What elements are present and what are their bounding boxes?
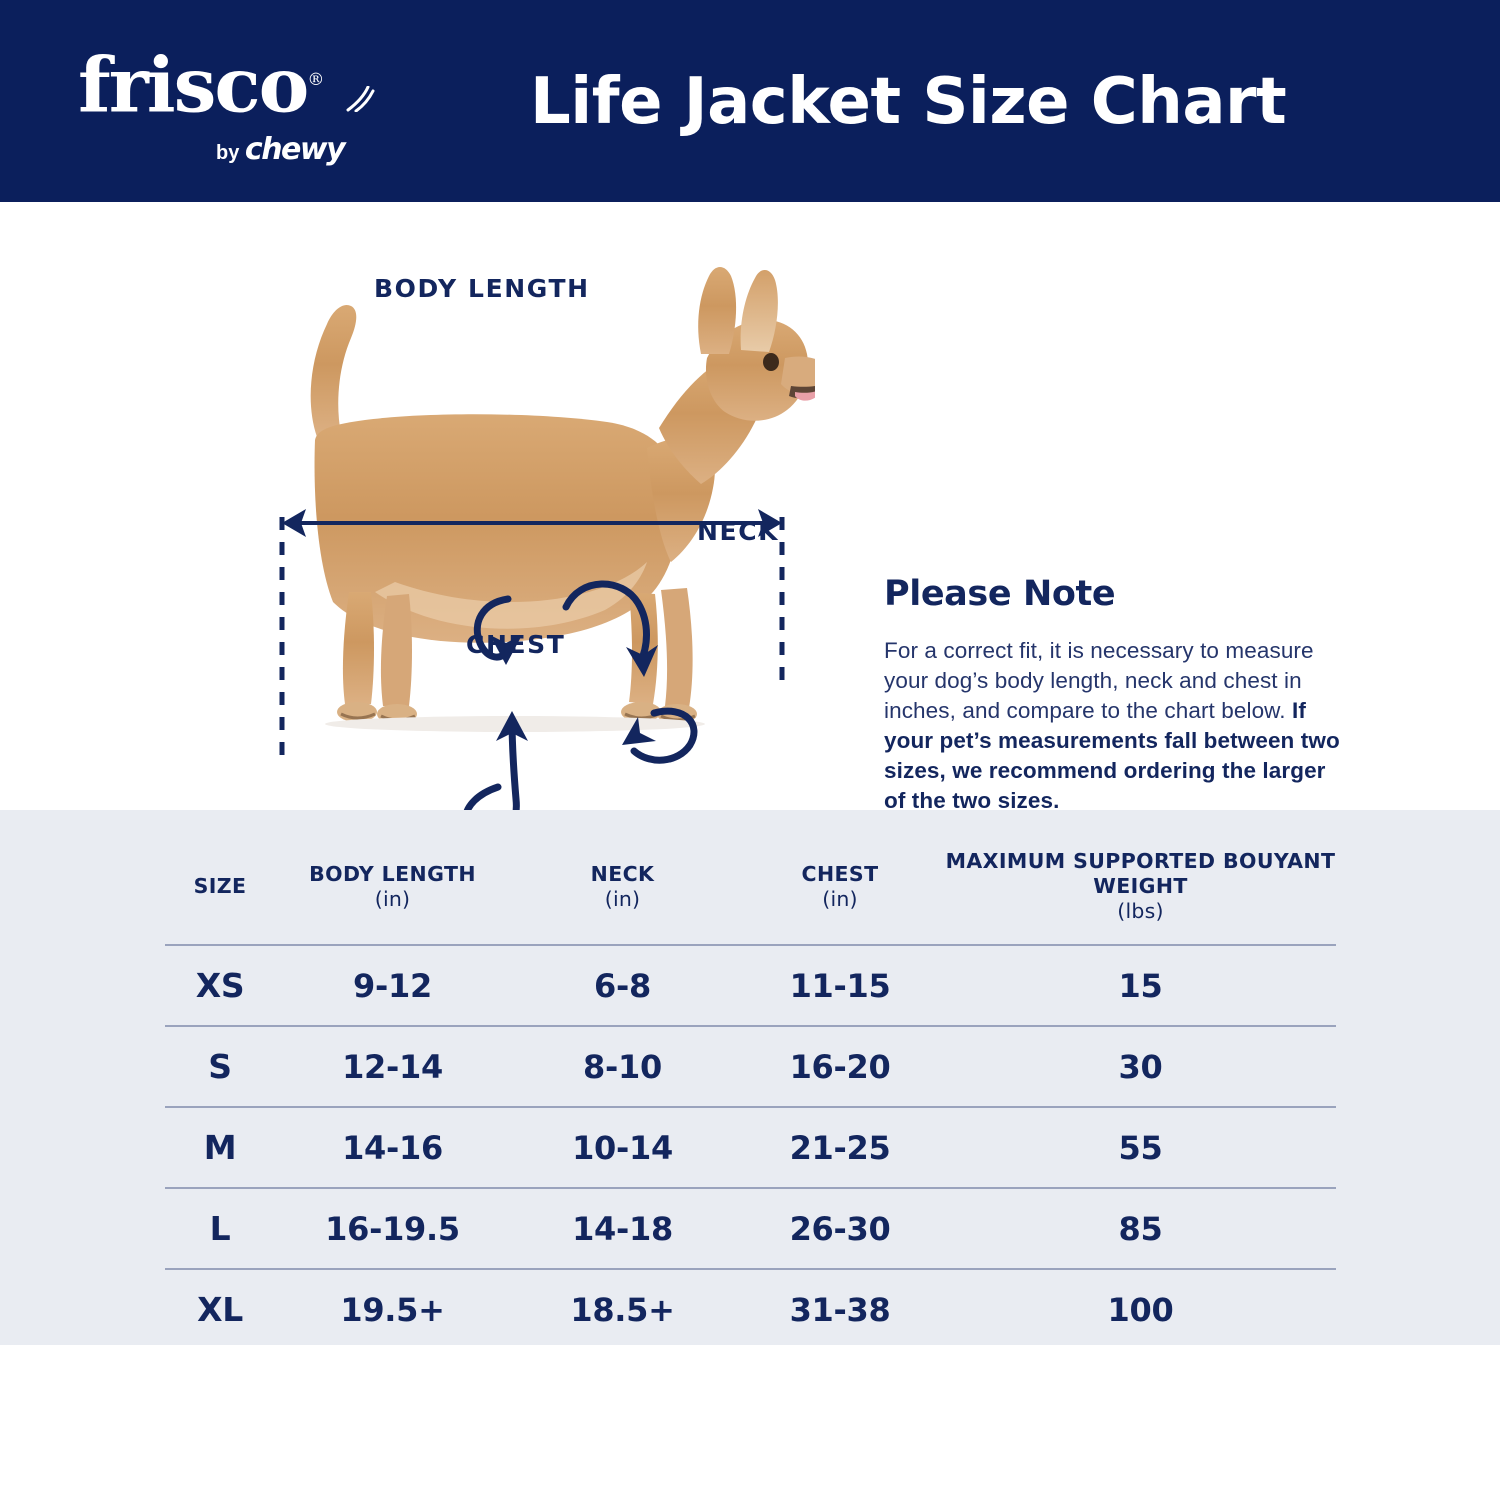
- cell-chest: 16-20: [735, 1026, 945, 1107]
- cell-chest: 26-30: [735, 1188, 945, 1269]
- please-note-paragraph: For a correct fit, it is necessary to me…: [884, 638, 1314, 723]
- column-header-chest: CHEST (in): [735, 835, 945, 945]
- cell-neck: 10-14: [510, 1107, 735, 1188]
- table-row: M 14-16 10-14 21-25 55: [165, 1107, 1336, 1188]
- cell-body-length: 9-12: [275, 945, 510, 1026]
- cell-neck: 18.5+: [510, 1269, 735, 1350]
- cell-size: M: [165, 1107, 275, 1188]
- neck-label: NECK: [697, 517, 779, 546]
- size-table-panel: SIZE BODY LENGTH (in) NECK (in) CHEST (i…: [0, 810, 1500, 1345]
- logo-byline: by chewy: [216, 132, 344, 167]
- frisco-logo[interactable]: frisco® by chewy: [78, 40, 378, 175]
- cell-neck: 14-18: [510, 1188, 735, 1269]
- cell-weight: 15: [945, 945, 1336, 1026]
- logo-by-text: by: [216, 142, 245, 164]
- cell-neck: 6-8: [510, 945, 735, 1026]
- chest-label: CHEST: [466, 630, 565, 659]
- cell-size: L: [165, 1188, 275, 1269]
- please-note-title: Please Note: [884, 574, 1344, 614]
- cell-weight: 55: [945, 1107, 1336, 1188]
- cell-body-length: 12-14: [275, 1026, 510, 1107]
- logo-wordmark: frisco®: [78, 40, 324, 125]
- unit-neck: (in): [510, 887, 735, 912]
- table-header-row: SIZE BODY LENGTH (in) NECK (in) CHEST (i…: [165, 835, 1336, 945]
- please-note-block: Please Note For a correct fit, it is nec…: [884, 574, 1344, 816]
- cell-weight: 85: [945, 1188, 1336, 1269]
- cell-chest: 11-15: [735, 945, 945, 1026]
- unit-max-weight: (lbs): [945, 899, 1336, 924]
- body-length-label: BODY LENGTH: [374, 274, 590, 303]
- cell-size: XL: [165, 1269, 275, 1350]
- cell-body-length: 16-19.5: [275, 1188, 510, 1269]
- cell-weight: 100: [945, 1269, 1336, 1350]
- table-header: SIZE BODY LENGTH (in) NECK (in) CHEST (i…: [165, 835, 1336, 945]
- unit-body-length: (in): [275, 887, 510, 912]
- cell-size: XS: [165, 945, 275, 1026]
- page-title: Life Jacket Size Chart: [530, 58, 1360, 146]
- please-note-text: For a correct fit, it is necessary to me…: [884, 636, 1344, 816]
- cell-chest: 21-25: [735, 1107, 945, 1188]
- logo-swish-icon: [346, 86, 376, 112]
- column-header-size: SIZE: [165, 835, 275, 945]
- header-bar: frisco® by chewy Life Jacket Size Chart: [0, 0, 1500, 202]
- dog-illustration: [255, 262, 815, 732]
- table-body: XS 9-12 6-8 11-15 15 S 12-14 8-10 16-20 …: [165, 945, 1336, 1350]
- cell-size: S: [165, 1026, 275, 1107]
- cell-chest: 31-38: [735, 1269, 945, 1350]
- table-row: S 12-14 8-10 16-20 30: [165, 1026, 1336, 1107]
- cell-body-length: 14-16: [275, 1107, 510, 1188]
- footer-whitespace: [0, 1345, 1500, 1500]
- cell-weight: 30: [945, 1026, 1336, 1107]
- table-row: XS 9-12 6-8 11-15 15: [165, 945, 1336, 1026]
- column-header-body-length: BODY LENGTH (in): [275, 835, 510, 945]
- unit-chest: (in): [735, 887, 945, 912]
- registered-trademark-icon: ®: [307, 70, 324, 90]
- logo-word-text: frisco: [78, 40, 307, 129]
- table-row: L 16-19.5 14-18 26-30 85: [165, 1188, 1336, 1269]
- dog-figure-icon: [255, 262, 815, 732]
- diagram-panel: BODY LENGTH NECK CHEST Please Note For a…: [0, 202, 1500, 810]
- cell-neck: 8-10: [510, 1026, 735, 1107]
- cell-body-length: 19.5+: [275, 1269, 510, 1350]
- table-row: XL 19.5+ 18.5+ 31-38 100: [165, 1269, 1336, 1350]
- size-chart-table: SIZE BODY LENGTH (in) NECK (in) CHEST (i…: [165, 835, 1336, 1351]
- column-header-neck: NECK (in): [510, 835, 735, 945]
- logo-chewy-text: chewy: [245, 132, 344, 167]
- column-header-max-weight: MAXIMUM SUPPORTED BOUYANT WEIGHT (lbs): [945, 835, 1336, 945]
